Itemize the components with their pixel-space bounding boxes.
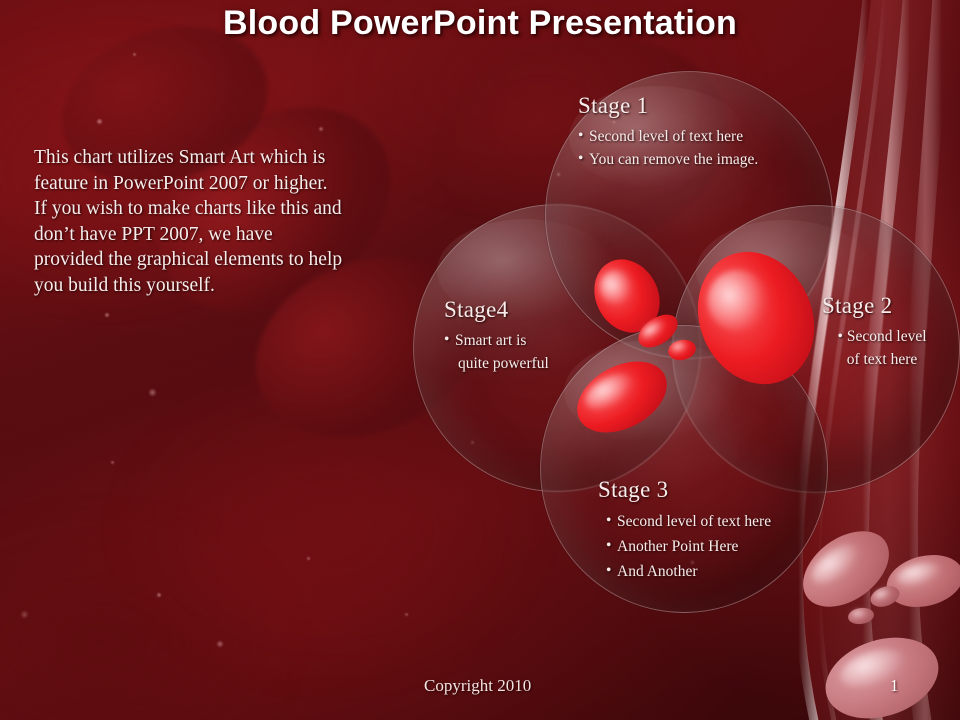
background-speck [110, 460, 115, 465]
bullet-icon: • [444, 329, 449, 350]
stage-3-title: Stage 3 [598, 476, 838, 503]
stage-4-title: Stage4 [444, 296, 619, 323]
stage-2-title: Stage 2 [812, 292, 952, 319]
bullet-icon: • [606, 534, 611, 557]
background-speck [156, 592, 162, 598]
background-speck [318, 126, 324, 132]
page-number: 1 [890, 676, 899, 696]
list-item: of text here [812, 349, 952, 370]
background-speck [306, 556, 311, 561]
pale-blood-cell [847, 606, 875, 625]
background-speck [96, 118, 103, 125]
body-paragraph: This chart utilizes Smart Art which is f… [34, 145, 344, 298]
stage-4-content: Stage4 •Smart art is quite powerful [444, 296, 619, 376]
bullet-icon: • [578, 125, 583, 146]
list-item: •Smart art is [444, 330, 619, 351]
list-item-label: Second level of text here [589, 128, 743, 145]
stage-1-title: Stage 1 [578, 92, 833, 119]
list-item-label: You can remove the image. [589, 151, 758, 168]
list-item-label: quite powerful [458, 355, 549, 372]
background-wisp [0, 520, 290, 720]
background-speck [216, 640, 224, 648]
list-item: •Another Point Here [606, 535, 838, 558]
list-item: •And Another [606, 560, 838, 583]
page-title: Blood PowerPoint Presentation [0, 4, 960, 43]
list-item-label: Smart art is [455, 332, 526, 349]
background-speck [104, 312, 110, 318]
list-item: quite powerful [444, 353, 619, 374]
pale-blood-cell [881, 547, 960, 614]
background-speck [148, 388, 157, 397]
stage-1-bullet-list: •Second level of text here •You can remo… [578, 126, 833, 170]
background-speck [404, 612, 409, 617]
bullet-icon: • [606, 509, 611, 532]
list-item-label: Second level of text here [617, 513, 771, 530]
presentation-slide: Blood PowerPoint Presentation This chart… [0, 0, 960, 720]
list-item-label: Another Point Here [617, 538, 738, 555]
copyright-label: Copyright 2010 [424, 676, 531, 696]
list-item: •Second level of text here [606, 510, 838, 533]
bullet-icon: • [606, 559, 611, 582]
list-item: •You can remove the image. [578, 149, 833, 170]
stage-2-bullet-list: •Second level of text here [812, 326, 952, 370]
pale-blood-cell [868, 582, 903, 610]
stage-1-content: Stage 1 •Second level of text here •You … [578, 92, 833, 172]
background-speck [132, 52, 137, 57]
stage-2-content: Stage 2 •Second level of text here [812, 292, 952, 372]
list-item: •Second level of text here [578, 126, 833, 147]
stage-4-bullet-list: •Smart art is quite powerful [444, 330, 619, 374]
stage-3-bullet-list: •Second level of text here •Another Poin… [598, 510, 838, 583]
list-item: •Second level [812, 326, 952, 347]
pale-blood-cell [815, 624, 949, 720]
stage-3-content: Stage 3 •Second level of text here •Anot… [598, 476, 838, 585]
bullet-icon: • [837, 328, 842, 345]
background-speck [20, 610, 29, 619]
list-item-label: Second level [847, 328, 927, 345]
bullet-icon: • [578, 148, 583, 169]
list-item-label: of text here [847, 351, 918, 368]
list-item-label: And Another [617, 563, 698, 580]
